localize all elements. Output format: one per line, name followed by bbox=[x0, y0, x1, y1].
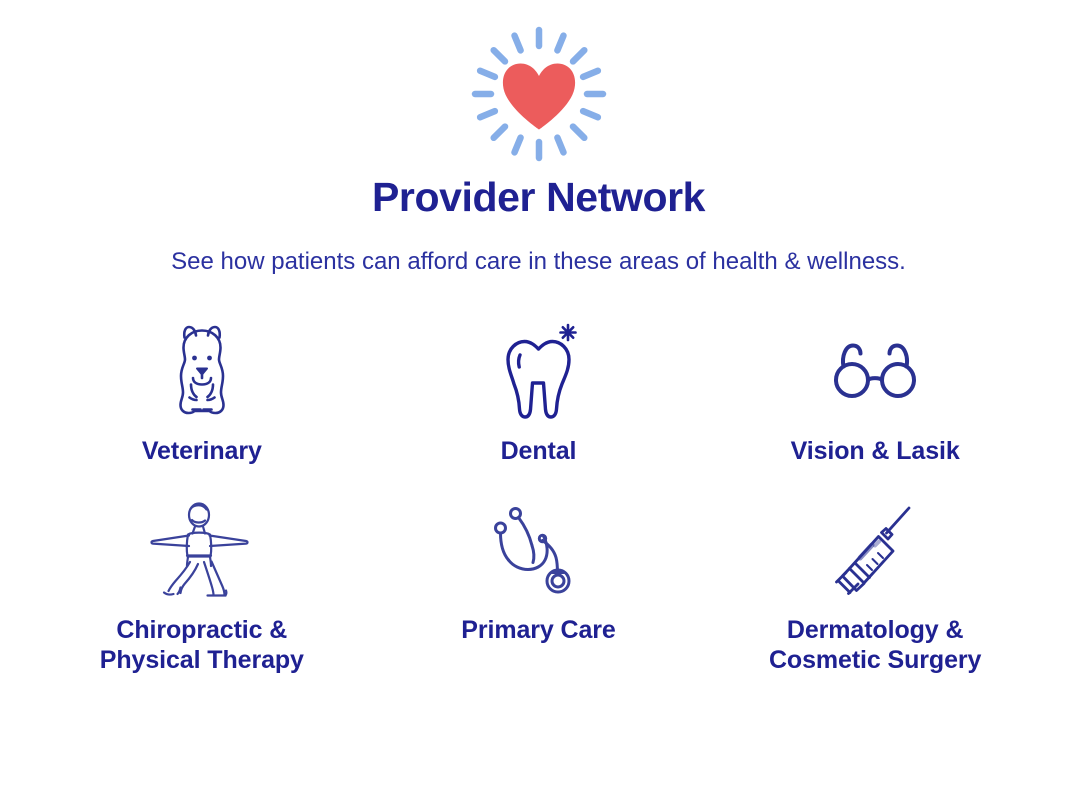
category-card-dental[interactable]: Dental bbox=[370, 316, 707, 467]
page-subtitle: See how patients can afford care in thes… bbox=[159, 245, 919, 278]
category-label: Primary Care bbox=[461, 615, 615, 646]
stethoscope-icon bbox=[488, 495, 588, 605]
category-label: Dental bbox=[501, 436, 577, 467]
category-card-vision-lasik[interactable]: Vision & Lasik bbox=[707, 316, 1044, 467]
category-card-veterinary[interactable]: Veterinary bbox=[34, 316, 371, 467]
category-label: Vision & Lasik bbox=[791, 436, 960, 467]
category-label: Veterinary bbox=[142, 436, 262, 467]
provider-network-page: Provider Network See how patients can af… bbox=[0, 0, 1077, 788]
category-label: Dermatology & Cosmetic Surgery bbox=[769, 615, 981, 676]
category-card-chiropractic-physical-therapy[interactable]: Chiropractic & Physical Therapy bbox=[34, 495, 371, 676]
page-title: Provider Network bbox=[372, 176, 705, 219]
radiating-heart-icon bbox=[469, 24, 609, 164]
hero-section: Provider Network See how patients can af… bbox=[0, 0, 1077, 278]
yoga-pose-icon bbox=[142, 495, 262, 605]
category-card-dermatology-cosmetic-surgery[interactable]: Dermatology & Cosmetic Surgery bbox=[707, 495, 1044, 676]
eyeglasses-icon bbox=[825, 316, 925, 426]
syringe-icon bbox=[833, 495, 917, 605]
bear-icon bbox=[164, 316, 240, 426]
category-grid: Veterinary Dental bbox=[34, 316, 1044, 676]
category-label: Chiropractic & Physical Therapy bbox=[100, 615, 304, 676]
tooth-sparkle-icon bbox=[490, 316, 586, 426]
category-card-primary-care[interactable]: Primary Care bbox=[370, 495, 707, 676]
